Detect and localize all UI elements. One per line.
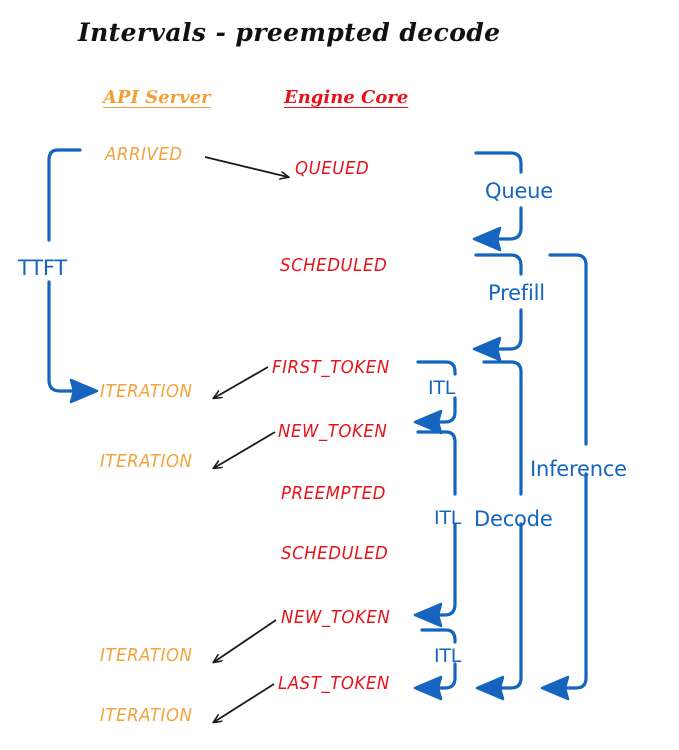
state-label-new-token-2: NEW_TOKEN <box>281 609 390 627</box>
state-label-new-token-1: NEW_TOKEN <box>278 423 387 441</box>
column-header-engine-core: Engine Core <box>284 89 408 107</box>
interval-label-itl-1: ITL <box>428 379 455 398</box>
interval-label-queue: Queue <box>485 181 553 202</box>
state-label-iteration-3: ITERATION <box>100 647 192 665</box>
state-label-iteration-4: ITERATION <box>100 707 192 725</box>
interval-label-itl-2: ITL <box>434 509 461 528</box>
interval-label-inference: Inference <box>530 459 627 480</box>
state-label-last-token: LAST_TOKEN <box>278 675 390 693</box>
transition-arrow-first-token-to-iteration <box>214 367 268 398</box>
interval-label-itl-3: ITL <box>434 647 461 666</box>
interval-label-prefill: Prefill <box>488 283 545 304</box>
state-label-scheduled-2: SCHEDULED <box>281 545 388 563</box>
column-header-api-server: API Server <box>103 89 211 107</box>
interval-label-ttft: TTFT <box>18 258 67 279</box>
state-label-scheduled-1: SCHEDULED <box>280 257 387 275</box>
diagram-canvas: Intervals - preempted decode API Server … <box>0 0 679 750</box>
state-label-preempted: PREEMPTED <box>281 485 386 503</box>
state-label-queued: QUEUED <box>295 160 369 178</box>
state-label-iteration-2: ITERATION <box>100 453 192 471</box>
interval-bracket-prefill <box>474 255 521 360</box>
interval-label-decode: Decode <box>474 509 553 530</box>
interval-bracket-itl-2 <box>415 432 455 626</box>
transition-arrow-arrived-to-queued <box>205 157 288 177</box>
state-label-arrived: ARRIVED <box>105 146 183 164</box>
diagram-title: Intervals - preempted decode <box>78 20 500 45</box>
state-label-first-token: FIRST_TOKEN <box>272 359 390 377</box>
state-label-iteration-1: ITERATION <box>100 383 192 401</box>
transition-arrow-last-token-to-iteration <box>214 684 274 722</box>
transition-arrow-new-token-to-iteration-1 <box>214 432 275 468</box>
transition-arrow-new-token-to-iteration-2 <box>214 620 276 662</box>
